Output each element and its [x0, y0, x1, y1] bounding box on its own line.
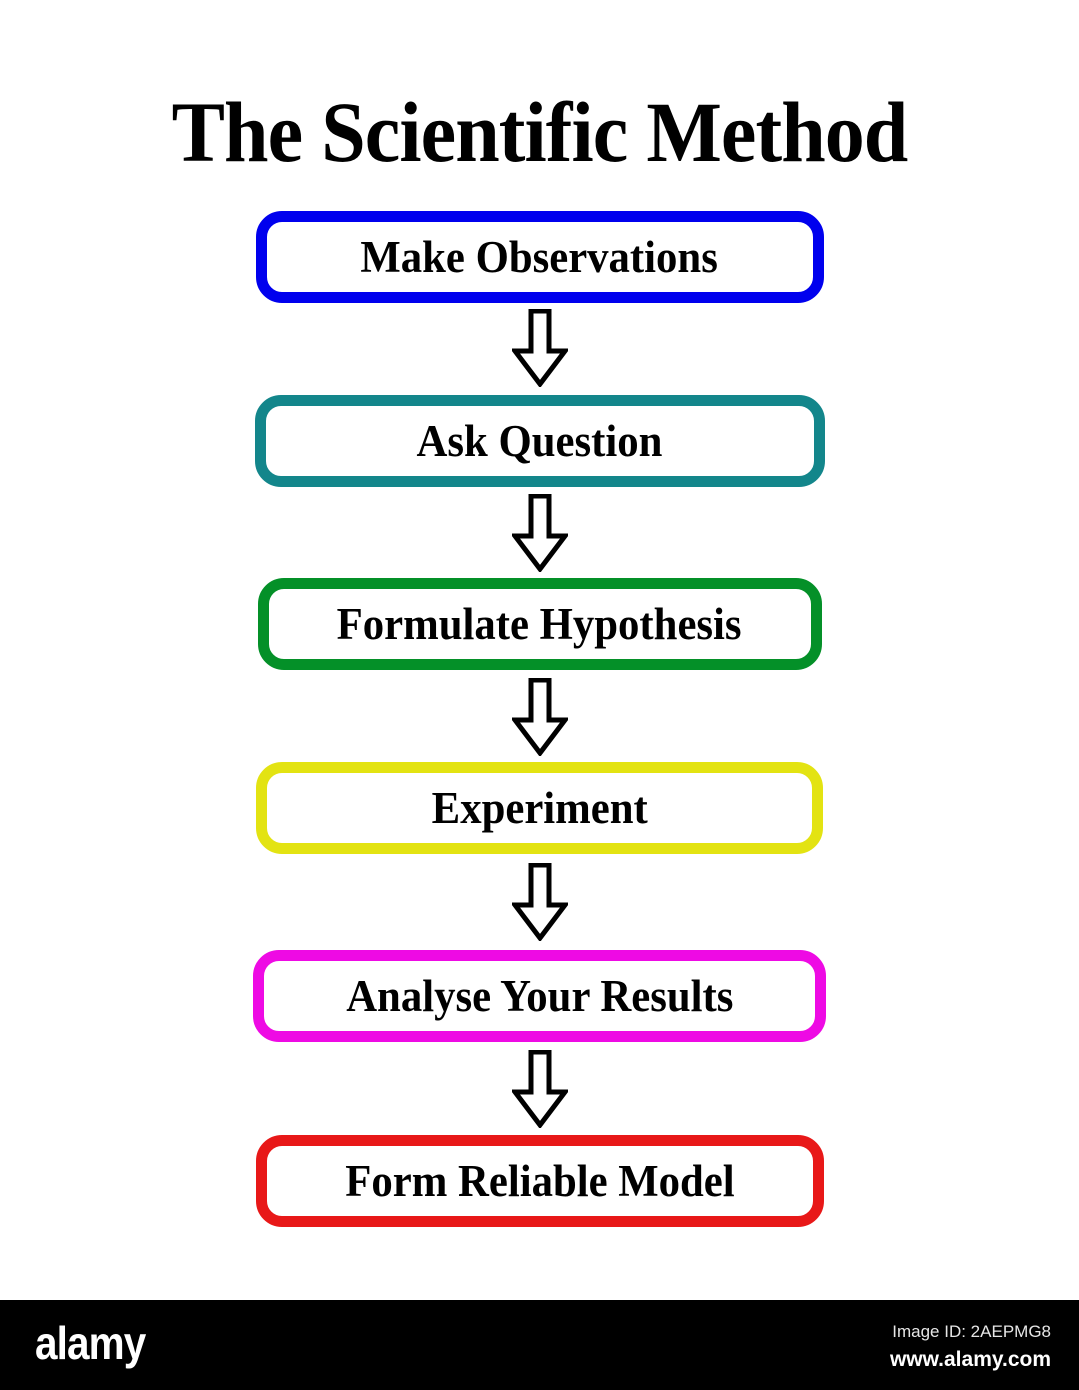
flow-step-row: Ask Question: [0, 395, 1079, 487]
flow-step-row: Form Reliable Model: [0, 1135, 1079, 1227]
flow-arrow-1: [0, 309, 1079, 387]
flow-step-formulate-hypothesis[interactable]: Formulate Hypothesis: [258, 578, 822, 670]
flow-step-form-reliable-model[interactable]: Form Reliable Model: [256, 1135, 824, 1227]
diagram-canvas: The Scientific Method Make Observations …: [0, 0, 1079, 1390]
flow-arrow-2: [0, 494, 1079, 572]
flow-step-make-observations[interactable]: Make Observations: [256, 211, 824, 303]
scientific-method-flowchart: Make Observations Ask Question Formulate…: [0, 205, 1079, 1235]
down-arrow-outline-icon: [512, 494, 568, 572]
flow-step-experiment[interactable]: Experiment: [256, 762, 823, 854]
flow-arrow-5: [0, 1050, 1079, 1128]
down-arrow-outline-icon: [512, 309, 568, 387]
flow-arrow-4: [0, 863, 1079, 941]
down-arrow-outline-icon: [512, 678, 568, 756]
flow-step-row: Experiment: [0, 762, 1079, 854]
flow-arrow-3: [0, 678, 1079, 756]
flow-step-row: Analyse Your Results: [0, 950, 1079, 1042]
flow-step-analyse-your-results[interactable]: Analyse Your Results: [253, 950, 826, 1042]
flow-step-label: Formulate Hypothesis: [337, 599, 742, 649]
down-arrow-outline-icon: [512, 1050, 568, 1128]
flow-step-label: Analyse Your Results: [346, 971, 733, 1021]
alamy-logo: alamy: [35, 1318, 145, 1368]
flow-step-ask-question[interactable]: Ask Question: [255, 395, 825, 487]
flow-step-label: Ask Question: [417, 416, 663, 466]
down-arrow-outline-icon: [512, 863, 568, 941]
flow-step-row: Make Observations: [0, 211, 1079, 303]
footer-url[interactable]: www.alamy.com: [890, 1348, 1051, 1372]
alamy-footer-bar: [0, 1300, 1079, 1390]
flow-step-label: Form Reliable Model: [345, 1156, 734, 1206]
flow-step-row: Formulate Hypothesis: [0, 578, 1079, 670]
flow-step-label: Make Observations: [361, 232, 718, 282]
footer-image-id: Image ID: 2AEPMG8: [892, 1322, 1051, 1342]
flow-step-label: Experiment: [431, 783, 647, 833]
page-title: The Scientific Method: [38, 84, 1041, 180]
